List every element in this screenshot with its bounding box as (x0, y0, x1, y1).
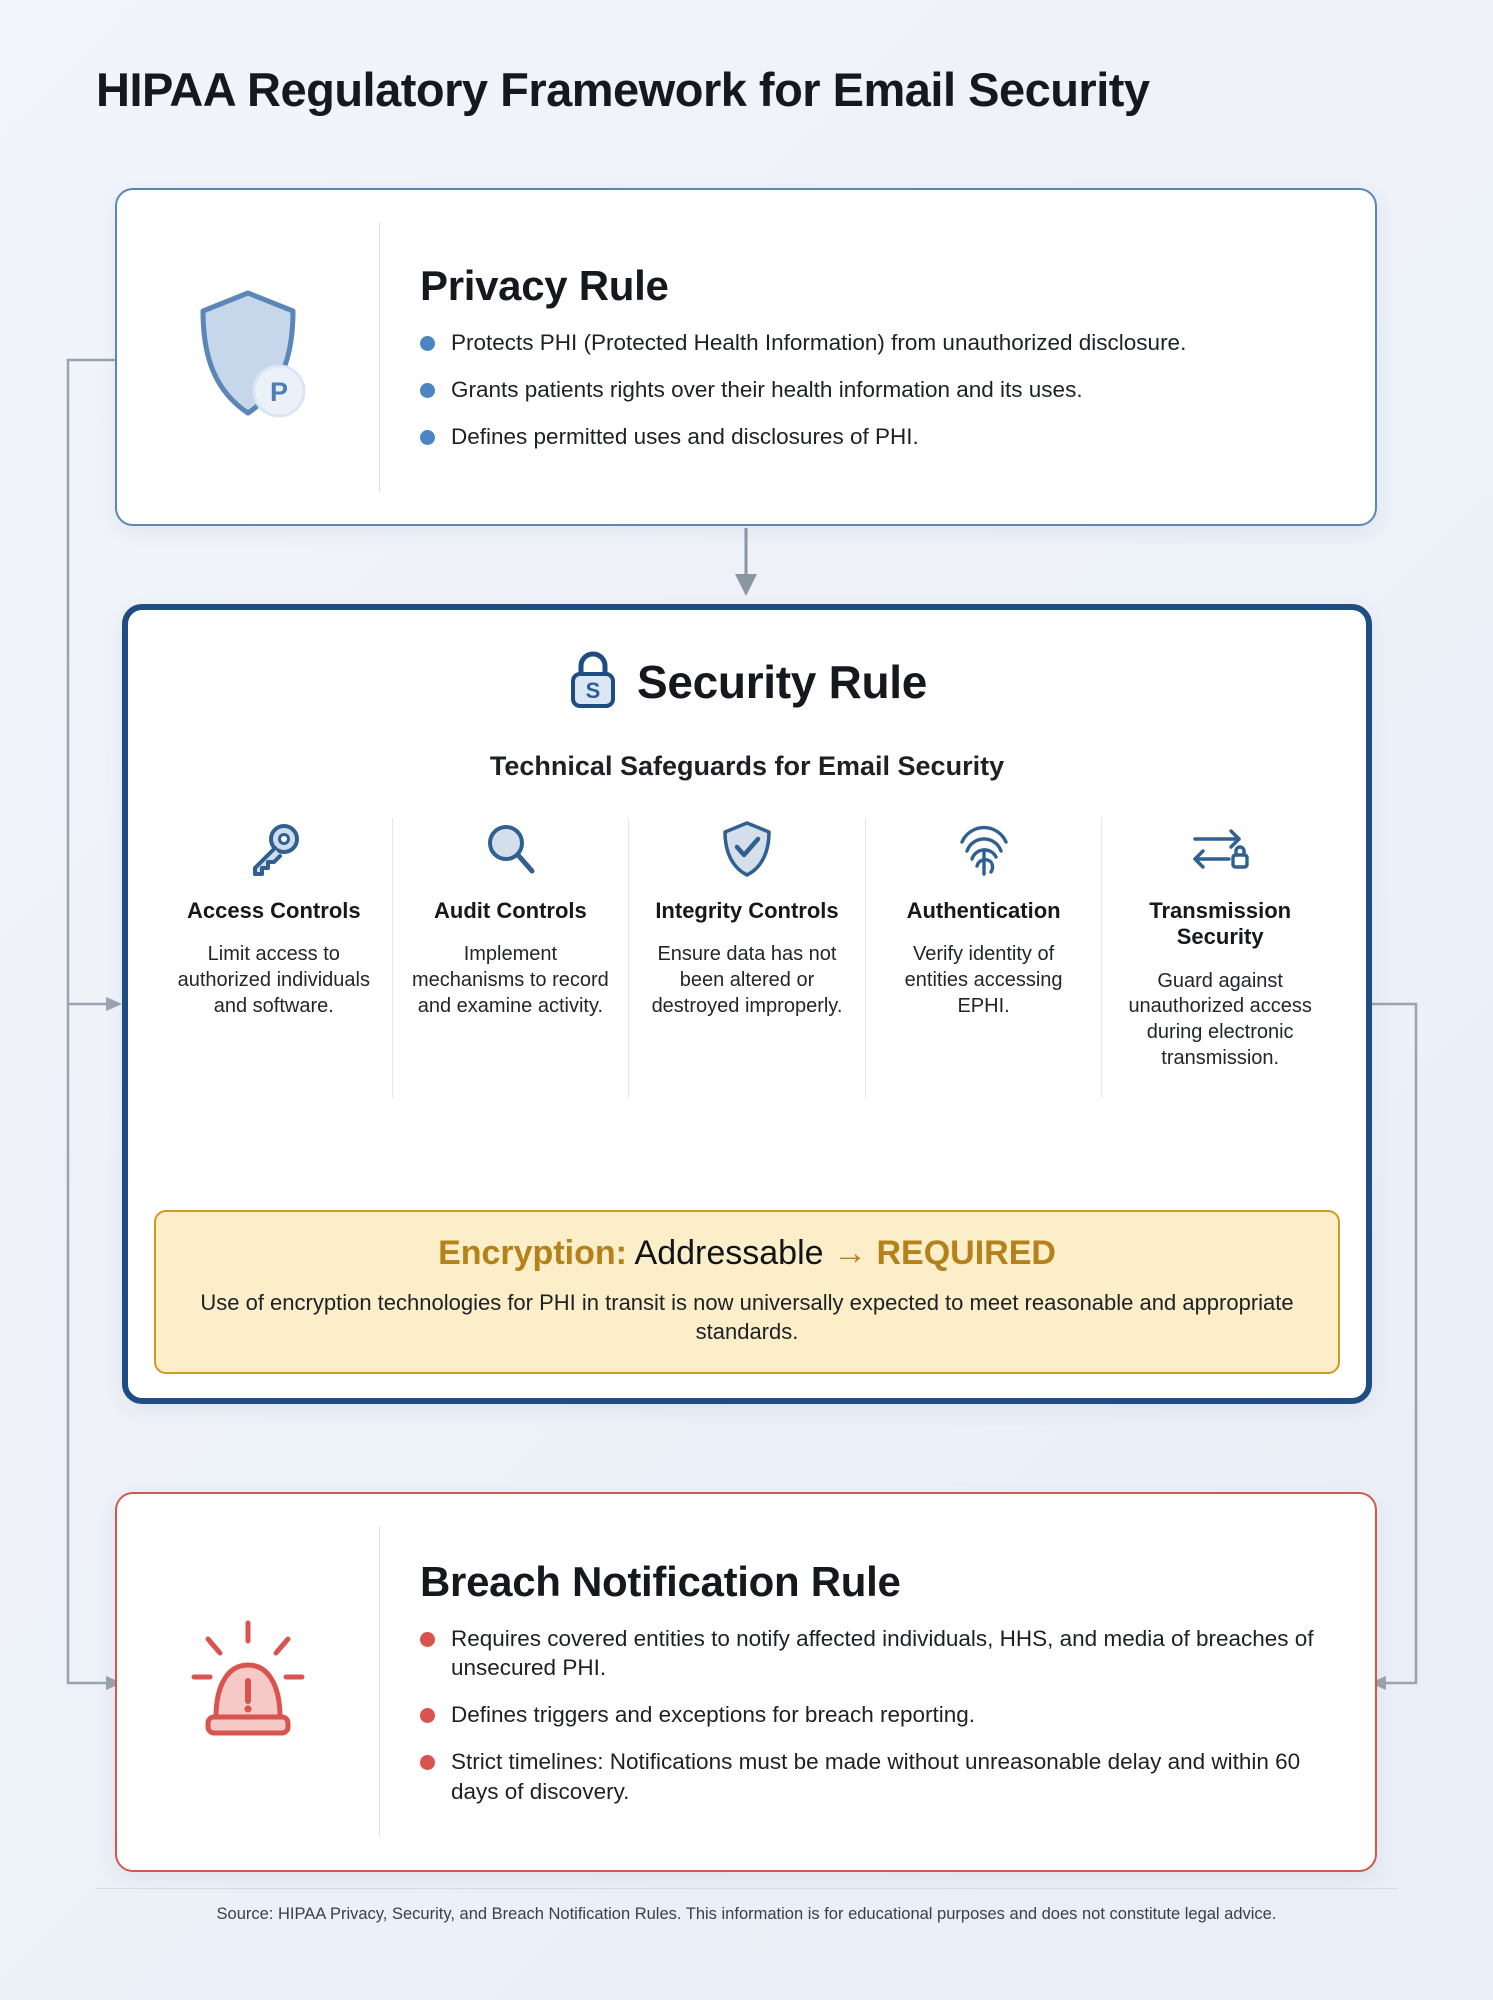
safeguard-desc: Implement mechanisms to record and exami… (407, 942, 615, 1019)
fingerprint-icon (880, 818, 1088, 880)
breach-bullet-list: Requires covered entities to notify affe… (420, 1624, 1333, 1806)
bullet-dot-icon (420, 1632, 435, 1647)
bullet-text: Defines permitted uses and disclosures o… (451, 422, 919, 452)
list-item: Defines permitted uses and disclosures o… (420, 422, 1333, 452)
safeguard-transmission-security: Transmission Security Guard against unau… (1102, 818, 1338, 1098)
bullet-text: Defines triggers and exceptions for brea… (451, 1700, 975, 1730)
privacy-rule-card: P Privacy Rule Protects PHI (Protected H… (115, 188, 1377, 526)
shield-p-icon: P (189, 285, 307, 430)
safeguards-row: Access Controls Limit access to authoriz… (156, 818, 1338, 1098)
encryption-banner: Encryption: Addressable → REQUIRED Use o… (154, 1210, 1340, 1374)
list-item: Defines triggers and exceptions for brea… (420, 1700, 1333, 1730)
safeguard-label: Access Controls (170, 898, 378, 924)
safeguard-label: Authentication (880, 898, 1088, 924)
shield-check-icon (643, 818, 851, 880)
alarm-icon (184, 1615, 312, 1750)
security-rule-subtitle: Technical Safeguards for Email Security (128, 751, 1366, 782)
svg-text:P: P (270, 377, 288, 407)
safeguard-label: Audit Controls (407, 898, 615, 924)
bullet-text: Requires covered entities to notify affe… (451, 1624, 1333, 1683)
arrow-right-icon: → (833, 1234, 867, 1272)
page-title: HIPAA Regulatory Framework for Email Sec… (96, 62, 1150, 117)
bullet-dot-icon (420, 383, 435, 398)
safeguard-authentication: Authentication Verify identity of entiti… (866, 818, 1103, 1098)
list-item: Grants patients rights over their health… (420, 375, 1333, 405)
list-item: Protects PHI (Protected Health Informati… (420, 328, 1333, 358)
bullet-text: Strict timelines: Notifications must be … (451, 1747, 1333, 1806)
safeguard-label: Integrity Controls (643, 898, 851, 924)
list-item: Strict timelines: Notifications must be … (420, 1747, 1333, 1806)
magnifier-icon (407, 818, 615, 880)
transmission-lock-icon (1116, 818, 1324, 880)
safeguard-access-controls: Access Controls Limit access to authoriz… (156, 818, 393, 1098)
encryption-label: Encryption: (438, 1234, 627, 1272)
bullet-dot-icon (420, 1755, 435, 1770)
encryption-from: Addressable (635, 1234, 824, 1272)
footer-source-note: Source: HIPAA Privacy, Security, and Bre… (0, 1905, 1493, 1924)
svg-text:S: S (586, 678, 601, 703)
key-icon (170, 818, 378, 880)
bullet-dot-icon (420, 1708, 435, 1723)
safeguard-desc: Ensure data has not been altered or dest… (643, 942, 851, 1019)
footer-divider (96, 1888, 1397, 1889)
security-rule-card: S Security Rule Technical Safeguards for… (122, 604, 1372, 1404)
safeguard-desc: Limit access to authorized individuals a… (170, 942, 378, 1019)
safeguard-desc: Verify identity of entities accessing EP… (880, 942, 1088, 1019)
breach-rule-title: Breach Notification Rule (420, 1558, 1333, 1606)
list-item: Requires covered entities to notify affe… (420, 1624, 1333, 1683)
bullet-text: Protects PHI (Protected Health Informati… (451, 328, 1186, 358)
breach-notification-card: Breach Notification Rule Requires covere… (115, 1492, 1377, 1872)
breach-body: Breach Notification Rule Requires covere… (380, 1558, 1375, 1806)
security-rule-title: Security Rule (637, 655, 927, 709)
bullet-dot-icon (420, 336, 435, 351)
encryption-to: REQUIRED (876, 1234, 1055, 1272)
encryption-note: Use of encryption technologies for PHI i… (180, 1288, 1314, 1347)
privacy-body: Privacy Rule Protects PHI (Protected Hea… (380, 262, 1375, 451)
safeguard-integrity-controls: Integrity Controls Ensure data has not b… (629, 818, 866, 1098)
privacy-icon-column: P (117, 285, 379, 430)
security-rule-header: S Security Rule (128, 648, 1366, 715)
lock-s-icon: S (567, 648, 619, 715)
safeguard-label: Transmission Security (1116, 898, 1324, 951)
bullet-dot-icon (420, 430, 435, 445)
breach-icon-column (117, 1615, 379, 1750)
bullet-text: Grants patients rights over their health… (451, 375, 1083, 405)
safeguard-desc: Guard against unauthorized access during… (1116, 969, 1324, 1071)
privacy-bullet-list: Protects PHI (Protected Health Informati… (420, 328, 1333, 451)
encryption-headline: Encryption: Addressable → REQUIRED (180, 1234, 1314, 1273)
privacy-rule-title: Privacy Rule (420, 262, 1333, 310)
infographic-page: HIPAA Regulatory Framework for Email Sec… (0, 0, 1493, 2000)
safeguard-audit-controls: Audit Controls Implement mechanisms to r… (393, 818, 630, 1098)
